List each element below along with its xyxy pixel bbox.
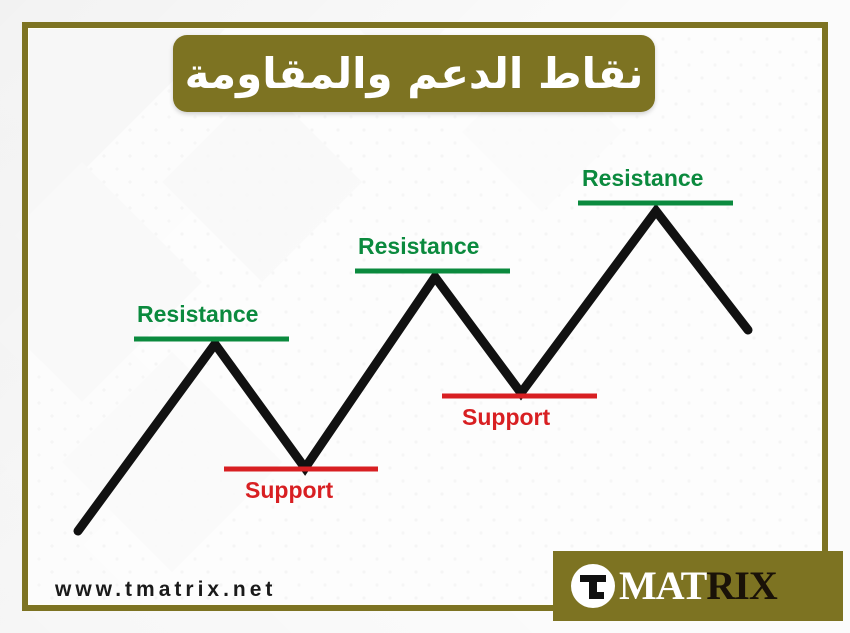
brand-logo: MATRIX [553,551,843,621]
infographic-page: نقاط الدعم والمقاومة ResistanceSupportRe… [0,0,850,633]
title-banner: نقاط الدعم والمقاومة [173,35,655,112]
resistance-label: Resistance [137,301,258,328]
circle-t-icon [571,564,615,608]
resistance-label: Resistance [358,233,479,260]
brand-word-primary: MAT [619,566,706,606]
page-title: نقاط الدعم والمقاومة [185,49,644,98]
support-label: Support [245,477,333,504]
support-label: Support [462,404,550,431]
website-url: www.tmatrix.net [55,578,276,602]
brand-word-secondary: RIX [706,566,776,606]
brand-wordmark: MATRIX [619,566,777,606]
resistance-label: Resistance [582,165,703,192]
